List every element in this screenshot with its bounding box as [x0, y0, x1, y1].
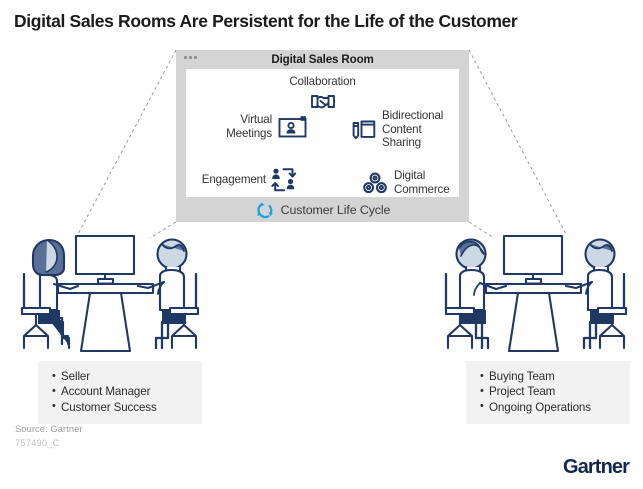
feature-digital-commerce[interactable]: Digital Commerce: [362, 169, 474, 196]
list-item: Customer Success: [52, 400, 192, 415]
customer-life-cycle-label: Customer Life Cycle: [281, 203, 391, 217]
chart-code: 757490_C: [15, 438, 60, 448]
feature-digital-commerce-label: Digital Commerce: [394, 169, 474, 196]
list-item: Buying Team: [480, 369, 620, 384]
gartner-logo: Gartner: [563, 456, 629, 479]
pen-document-icon: [350, 116, 376, 142]
source-note: Source: Gartner: [15, 424, 83, 434]
feature-collaboration[interactable]: Collaboration: [186, 75, 459, 113]
video-person-icon: [278, 115, 308, 139]
list-item: Ongoing Operations: [480, 400, 620, 415]
seller-roles-list: Seller Account Manager Customer Success: [52, 369, 192, 415]
gears-icon: [362, 170, 388, 196]
buyer-roles-list: Buying Team Project Team Ongoing Operati…: [480, 369, 620, 415]
buyer-side-illustration: [438, 226, 633, 354]
feature-bidirectional-content-sharing[interactable]: Bidirectional Content Sharing: [350, 109, 474, 150]
digital-sales-room-panel: Digital Sales Room Collaboration: [176, 50, 469, 222]
panel-header: Digital Sales Room: [176, 50, 469, 69]
seller-roles-box: Seller Account Manager Customer Success: [38, 361, 202, 424]
feature-virtual-meetings-label: Virtual Meetings: [204, 113, 272, 140]
panel-body: Collaboration Virtual Meetings: [186, 69, 459, 197]
feature-engagement[interactable]: Engagement: [194, 167, 298, 193]
list-item: Project Team: [480, 384, 620, 399]
feature-virtual-meetings[interactable]: Virtual Meetings: [204, 113, 308, 140]
page-title: Digital Sales Rooms Are Persistent for t…: [14, 10, 624, 32]
seller-side-illustration: [10, 226, 205, 354]
feature-bidirectional-content-sharing-label: Bidirectional Content Sharing: [382, 109, 474, 150]
list-item: Account Manager: [52, 384, 192, 399]
feature-collaboration-label: Collaboration: [289, 75, 355, 89]
feature-engagement-label: Engagement: [194, 173, 266, 187]
list-item: Seller: [52, 369, 192, 384]
slide-canvas: Digital Sales Rooms Are Persistent for t…: [0, 0, 643, 489]
buyer-roles-box: Buying Team Project Team Ongoing Operati…: [466, 361, 630, 424]
refresh-cycle-icon: [255, 200, 275, 220]
handshake-icon: [310, 91, 336, 113]
panel-footer: Customer Life Cycle: [176, 197, 469, 222]
panel-title: Digital Sales Room: [176, 53, 469, 66]
two-people-exchange-icon: [270, 167, 298, 193]
